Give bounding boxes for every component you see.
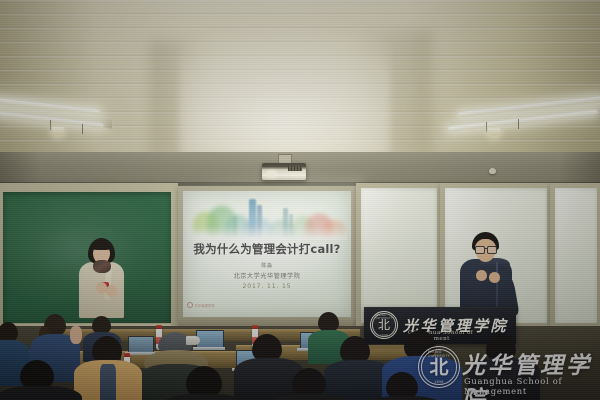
slide-vignette [183, 191, 351, 317]
presenter-hand [106, 285, 117, 297]
fixture-hanger [50, 120, 51, 130]
fixture-hanger [486, 122, 487, 132]
cap-brim [186, 336, 200, 345]
whiteboard-glare [555, 188, 597, 323]
ceiling-light-glow [180, 16, 390, 156]
bottle-cap [124, 353, 130, 357]
seal-glyph: 北 [378, 319, 390, 331]
pku-seal-icon: PEKING UNIVERSITY 北 1898 [370, 311, 398, 339]
presenter-scarf [93, 260, 111, 273]
audience-head [0, 322, 18, 342]
whiteboard-surface [361, 188, 437, 323]
presentation-slide: 我为什么为管理会计打call? 陈淼 北京大学光华管理学院 2017. 11. … [183, 191, 351, 317]
fixture-hanger [82, 124, 83, 134]
audience-raised-hand [70, 326, 82, 344]
bottle-cap [252, 325, 258, 329]
projector-lens [267, 171, 276, 177]
audience-torso [0, 386, 82, 400]
presenter-fringe [91, 240, 112, 250]
laptop-base [193, 347, 225, 350]
projection-screen: 我为什么为管理会计打call? 陈淼 北京大学光华管理学院 2017. 11. … [178, 186, 356, 326]
audience-torso [468, 358, 540, 400]
ceiling-projector [262, 163, 306, 185]
ceiling-light-fixture-right [440, 100, 600, 140]
projector-vent [288, 166, 302, 171]
audience-head [318, 312, 339, 332]
glasses-bridge [484, 248, 488, 249]
pendant-bulb [52, 127, 64, 135]
pendant-bulb [488, 128, 500, 136]
whiteboard-surface [555, 188, 597, 323]
audience-inner-layer [100, 364, 116, 400]
fixture-hanger [518, 119, 519, 129]
presenter-hand [476, 270, 487, 281]
ceiling-sensor [489, 168, 496, 174]
whiteboard-glare [361, 188, 437, 323]
ceiling-light-fixture-left [0, 100, 120, 140]
presenter-hand [489, 272, 500, 283]
glasses-icon [475, 246, 496, 252]
glasses-lens [487, 246, 497, 254]
seal-bottom-text: 1898 [380, 334, 388, 337]
lecture-hall-photo: 我为什么为管理会计打call? 陈淼 北京大学光华管理学院 2017. 11. … [0, 0, 600, 400]
bottle-cap [156, 325, 162, 329]
whiteboard-far-right-panel [550, 183, 600, 329]
